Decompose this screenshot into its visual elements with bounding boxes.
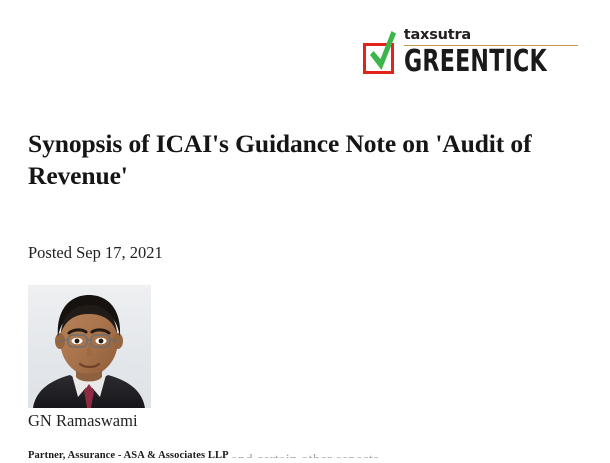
author-name: GN Ramaswami xyxy=(28,408,582,431)
author-block: GN Ramaswami Partner, Assurance - ASA & … xyxy=(28,263,582,463)
page-title: Synopsis of ICAI's Guidance Note on 'Aud… xyxy=(28,128,582,192)
logo-wordmark: taxsutra GREENTICK xyxy=(404,27,578,76)
article-body-preview: and certain other aspects xyxy=(28,451,582,458)
posted-date: Posted Sep 17, 2021 xyxy=(28,192,582,263)
logo-greentick-text: GREENTICK xyxy=(404,47,547,76)
article-body-preview-text: and certain other aspects xyxy=(28,451,582,458)
checkmark-icon xyxy=(364,29,398,75)
author-role: Partner, Assurance - ASA & Associates LL… xyxy=(28,431,582,463)
avatar-portrait-image xyxy=(28,285,151,408)
taxsutra-greentick-logo[interactable]: taxsutra GREENTICK xyxy=(362,27,578,77)
green-tick-checkbox-icon xyxy=(362,27,398,75)
author-avatar xyxy=(28,285,151,408)
article-container: Synopsis of ICAI's Guidance Note on 'Aud… xyxy=(28,128,582,463)
logo-taxsutra-text: taxsutra xyxy=(404,28,578,43)
site-header: taxsutra GREENTICK xyxy=(0,0,610,100)
